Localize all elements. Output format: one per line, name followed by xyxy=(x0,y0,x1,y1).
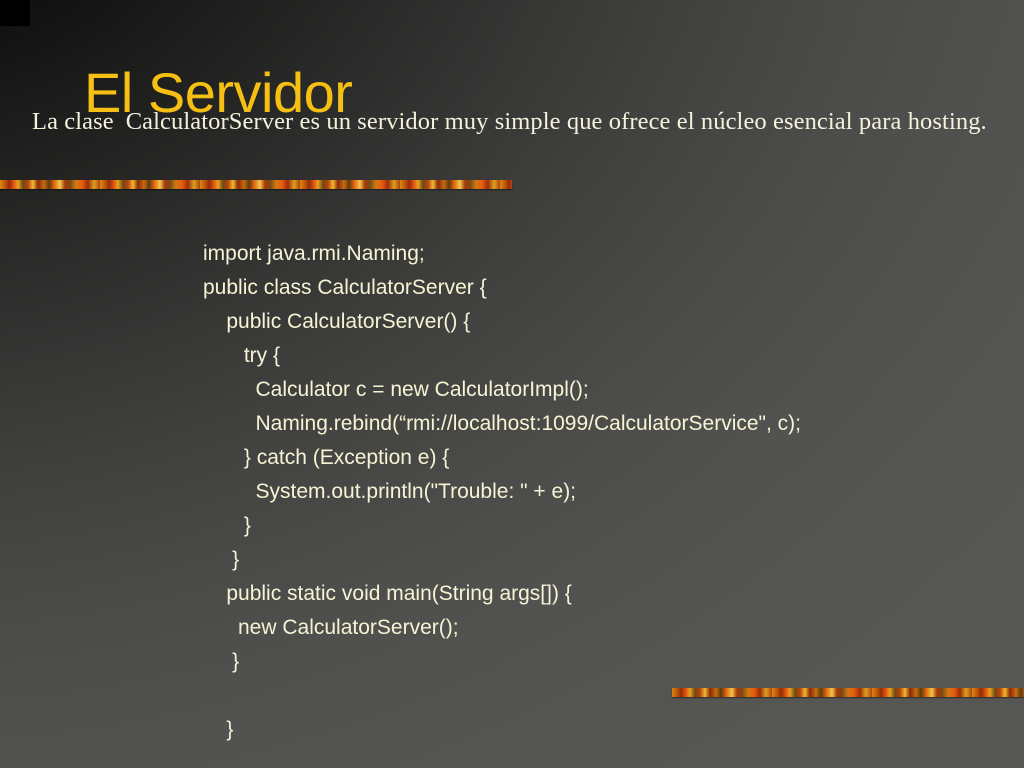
code-line: public CalculatorServer() { xyxy=(203,305,801,339)
corner-shadow-patch xyxy=(0,0,30,26)
code-line: System.out.println("Trouble: " + e); xyxy=(203,475,801,509)
code-line: new CalculatorServer(); xyxy=(203,611,801,645)
code-line: import java.rmi.Naming; xyxy=(203,237,801,271)
bottom-divider-bar xyxy=(672,688,1024,697)
code-block: import java.rmi.Naming;public class Calc… xyxy=(203,237,801,747)
code-line: } xyxy=(203,543,801,577)
code-line: try { xyxy=(203,339,801,373)
code-line: Calculator c = new CalculatorImpl(); xyxy=(203,373,801,407)
slide-subtitle: La claseCalculatorServer es un servidor … xyxy=(32,106,1002,139)
code-line: } xyxy=(203,509,801,543)
code-line: Naming.rebind(“rmi://localhost:1099/Calc… xyxy=(203,407,801,441)
code-line: } xyxy=(203,645,801,679)
code-line: } xyxy=(203,713,801,747)
code-line: } catch (Exception e) { xyxy=(203,441,801,475)
subtitle-lead-text: La clase xyxy=(32,108,114,135)
presentation-slide: El Servidor La claseCalculatorServer es … xyxy=(0,0,1024,768)
code-line: public class CalculatorServer { xyxy=(203,271,801,305)
top-divider-bar xyxy=(0,180,512,189)
code-line: public static void main(String args[]) { xyxy=(203,577,801,611)
subtitle-body-text: CalculatorServer es un servidor muy simp… xyxy=(126,108,987,135)
